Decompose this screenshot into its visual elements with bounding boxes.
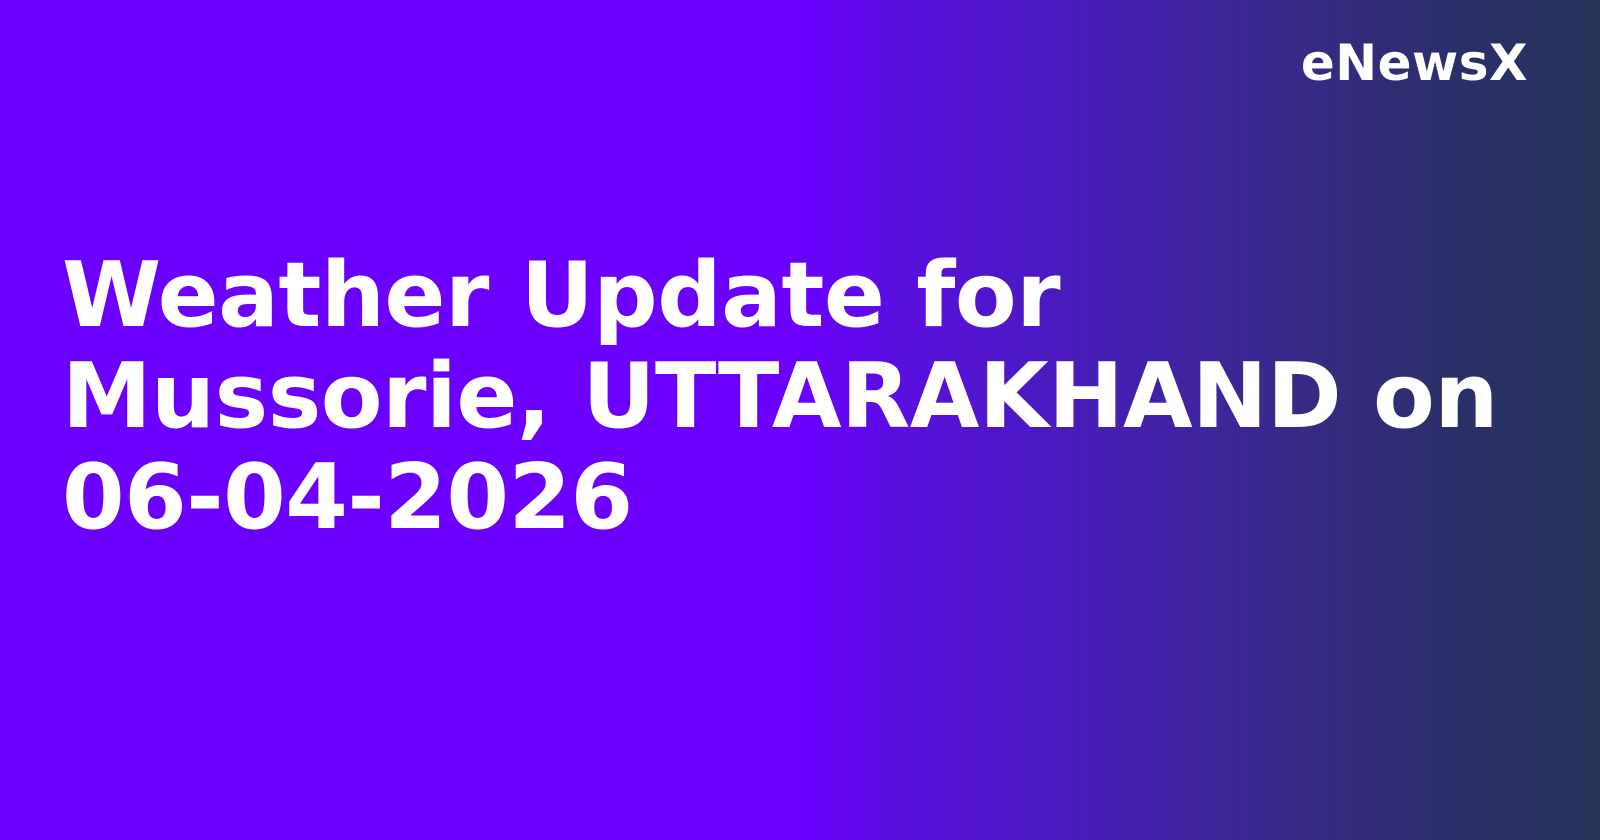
brand-bar: eNewsX [0,0,1600,120]
weather-news-banner: eNewsX Weather Update for Mussorie, UTTA… [0,0,1600,840]
enewsx-logo[interactable]: eNewsX [1301,38,1528,88]
headline-container: Weather Update for Mussorie, UTTARAKHAND… [62,246,1502,548]
page-title: Weather Update for Mussorie, UTTARAKHAND… [62,246,1502,548]
